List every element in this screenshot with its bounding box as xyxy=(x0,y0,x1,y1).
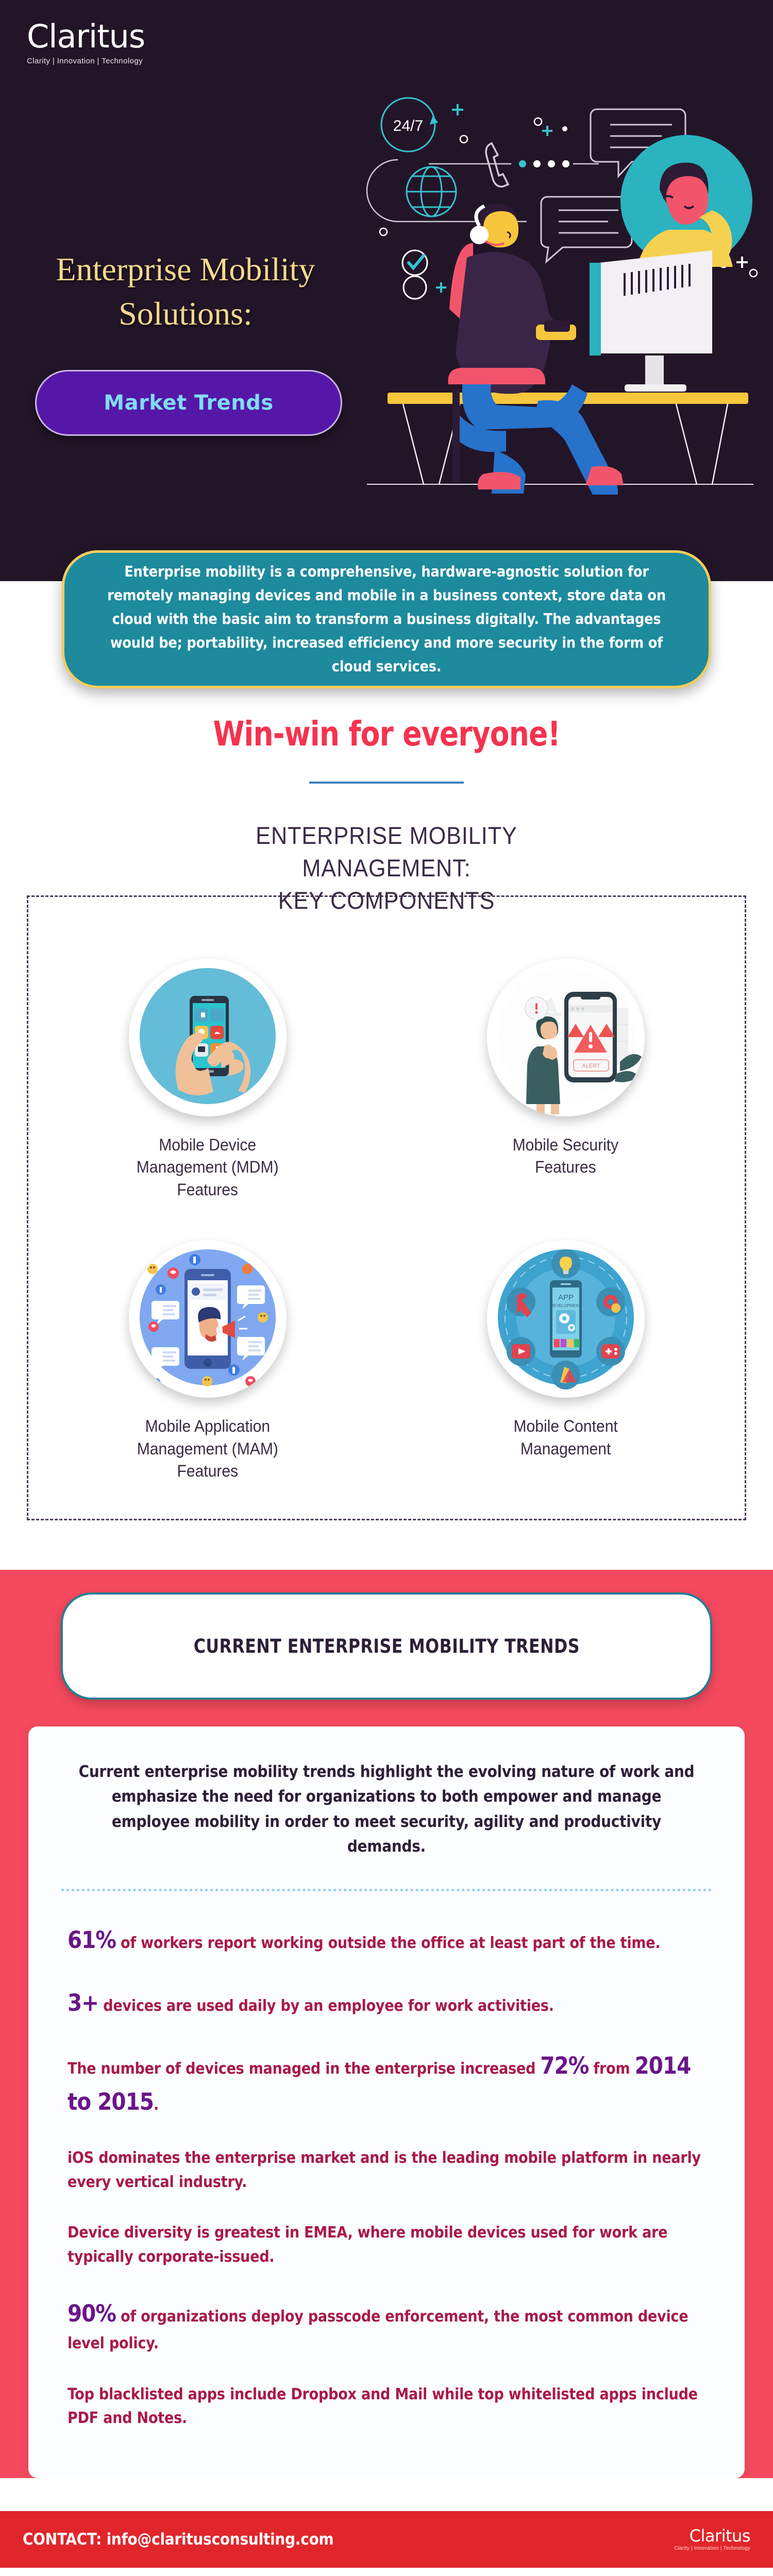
stat-item-90: 90% of organizations deploy passcode enf… xyxy=(61,2296,712,2355)
page-title: Enterprise Mobility Solutions: xyxy=(0,247,371,336)
footer-logo-name: Claritus xyxy=(674,2528,750,2544)
key-components-box: Mobile Device Management (MDM) Features xyxy=(27,895,746,1520)
stat-item-72: The number of devices managed in the ent… xyxy=(61,2048,712,2120)
component-card-mdm[interactable]: Mobile Device Management (MDM) Features xyxy=(28,959,386,1201)
desktop-monitor xyxy=(590,250,712,392)
brand-name: Claritus xyxy=(27,21,145,53)
svg-text:APP: APP xyxy=(558,1293,573,1302)
component-card-security[interactable]: ALERT xyxy=(386,959,745,1201)
component-card-content[interactable]: APP DEVELOPMENT xyxy=(386,1240,745,1483)
trends-banner-section: CURRENT ENTERPRISE MOBILITY TRENDS xyxy=(0,1570,773,1700)
definition-callout-zone: Enterprise mobility is a comprehensive, … xyxy=(0,531,773,629)
app-development-gears-icon: APP DEVELOPMENT xyxy=(487,1240,645,1398)
trends-intro-text: Current enterprise mobility trends highl… xyxy=(61,1759,712,1859)
stat-text-apps: Top blacklisted apps include Dropbox and… xyxy=(68,2385,698,2428)
trends-card: Current enterprise mobility trends highl… xyxy=(28,1726,745,2478)
stat-prefix-72: The number of devices managed in the ent… xyxy=(68,2060,540,2078)
stat-item-emea: Device diversity is greatest in EMEA, wh… xyxy=(61,2221,712,2269)
key-components-grid: Mobile Device Management (MDM) Features xyxy=(28,959,745,1483)
key-components-section: ENTERPRISE MOBILITY MANAGEMENT: KEY COMP… xyxy=(0,784,773,1570)
dot-solid-icon xyxy=(562,126,567,131)
svg-text:ALERT: ALERT xyxy=(582,1063,600,1069)
brand-logo[interactable]: Claritus Clarity | Innovation | Technolo… xyxy=(27,21,145,65)
component-label-security: Mobile Security Features xyxy=(513,1134,619,1179)
key-components-title: ENTERPRISE MOBILITY MANAGEMENT: KEY COMP… xyxy=(31,820,742,917)
trends-banner: CURRENT ENTERPRISE MOBILITY TRENDS xyxy=(61,1592,712,1700)
plus-small-icon xyxy=(436,282,446,293)
kc-title-line-1: ENTERPRISE MOBILITY xyxy=(31,820,742,852)
footer-logo-tagline: Clarity | Innovation | Technology xyxy=(674,2546,750,2551)
footer: CONTACT: info@claritusconsulting.com Cla… xyxy=(0,2511,773,2568)
stat-item-apps: Top blacklisted apps include Dropbox and… xyxy=(61,2383,712,2431)
dot-ring-a-icon xyxy=(534,118,542,125)
trends-divider xyxy=(61,1889,712,1891)
phone-handset-icon xyxy=(486,143,508,187)
dot-ring-c-icon xyxy=(380,228,387,235)
kc-label-1-line-3: Features xyxy=(137,1179,279,1201)
kc-label-3-line-3: Features xyxy=(137,1460,278,1483)
stat-value-72: 72% xyxy=(540,2052,589,2079)
stat-item-3plus: 3+ devices are used daily by an employee… xyxy=(61,1985,712,2021)
svg-text:DEVELOPMENT: DEVELOPMENT xyxy=(550,1303,581,1308)
customer-support-illustration: 24/7 xyxy=(357,77,764,495)
check-mark-icon xyxy=(409,256,424,268)
component-card-mam[interactable]: Mobile Application Management (MAM) Feat… xyxy=(28,1240,386,1483)
plus-right-icon xyxy=(736,257,748,268)
dots-row-icon xyxy=(429,160,599,167)
chat-bubble-bottom-icon xyxy=(541,197,632,262)
dot-ring-b-icon xyxy=(460,135,467,143)
component-label-mdm: Mobile Device Management (MDM) Features xyxy=(137,1134,279,1201)
kc-label-2-line-1: Mobile Security xyxy=(513,1134,619,1157)
winwin-heading: Win-win for everyone! xyxy=(213,714,560,754)
kc-label-4-line-2: Management xyxy=(513,1438,617,1461)
kc-title-line-2: MANAGEMENT: xyxy=(31,852,742,885)
phone-alert-icon: ALERT xyxy=(487,959,645,1116)
definition-text: Enterprise mobility is a comprehensive, … xyxy=(93,560,680,679)
hero-section: Claritus Clarity | Innovation | Technolo… xyxy=(0,0,773,531)
hands-holding-phone-icon xyxy=(129,959,287,1116)
stat-text-emea: Device diversity is greatest in EMEA, wh… xyxy=(68,2224,667,2266)
trends-banner-label: CURRENT ENTERPRISE MOBILITY TRENDS xyxy=(193,1635,579,1657)
stat-item-ios: iOS dominates the enterprise market and … xyxy=(61,2146,712,2194)
stat-text-90: of organizations deploy passcode enforce… xyxy=(68,2308,688,2352)
kc-title-line-3: KEY COMPONENTS xyxy=(31,885,742,917)
stat-text-ios: iOS dominates the enterprise market and … xyxy=(68,2149,701,2191)
kc-label-1-line-1: Mobile Device xyxy=(137,1134,279,1157)
kc-label-3-line-2: Management (MAM) xyxy=(137,1438,278,1461)
kc-label-2-line-2: Features xyxy=(513,1156,619,1179)
kc-label-4-line-1: Mobile Content xyxy=(513,1415,617,1438)
footer-logo[interactable]: Claritus Clarity | Innovation | Technolo… xyxy=(674,2528,750,2551)
hero-title-line-1: Enterprise Mobility xyxy=(0,247,371,292)
globe-icon xyxy=(407,167,456,216)
stat-mid-72: from xyxy=(589,2060,634,2078)
kc-label-3-line-1: Mobile Application xyxy=(137,1415,278,1438)
footer-spacer xyxy=(0,2478,773,2511)
stat-text-61: of workers report working outside the of… xyxy=(116,1934,661,1952)
clock-badge-label: 24/7 xyxy=(393,117,423,134)
definition-callout: Enterprise mobility is a comprehensive, … xyxy=(62,550,711,688)
component-label-content: Mobile Content Management xyxy=(513,1415,617,1460)
megaphone-social-phone-icon xyxy=(129,1240,287,1398)
hero-title-line-2: Solutions: xyxy=(0,292,371,336)
infographic-page: Claritus Clarity | Innovation | Technolo… xyxy=(0,0,773,2568)
trends-body-section: Current enterprise mobility trends highl… xyxy=(0,1700,773,2478)
market-trends-button[interactable]: Market Trends xyxy=(35,370,342,436)
footer-contact[interactable]: CONTACT: info@claritusconsulting.com xyxy=(23,2530,333,2549)
dot-ring-e-icon xyxy=(750,269,757,277)
market-trends-button-label: Market Trends xyxy=(104,391,273,415)
plus-mid-icon xyxy=(542,126,552,136)
stat-value-61: 61% xyxy=(68,1926,116,1954)
stat-item-61: 61% of workers report working outside th… xyxy=(61,1922,712,1958)
kc-label-1-line-2: Management (MDM) xyxy=(137,1156,279,1179)
brand-tagline: Clarity | Innovation | Technology xyxy=(27,57,145,65)
stat-text-3plus: devices are used daily by an employee fo… xyxy=(98,1997,554,2015)
plus-top-icon xyxy=(452,104,463,115)
stat-value-3plus: 3+ xyxy=(68,1989,98,2016)
component-label-mam: Mobile Application Management (MAM) Feat… xyxy=(137,1415,278,1483)
stat-value-90: 90% xyxy=(68,2300,116,2327)
stat-suffix-72: . xyxy=(154,2096,159,2114)
empty-circle-icon xyxy=(404,276,426,299)
